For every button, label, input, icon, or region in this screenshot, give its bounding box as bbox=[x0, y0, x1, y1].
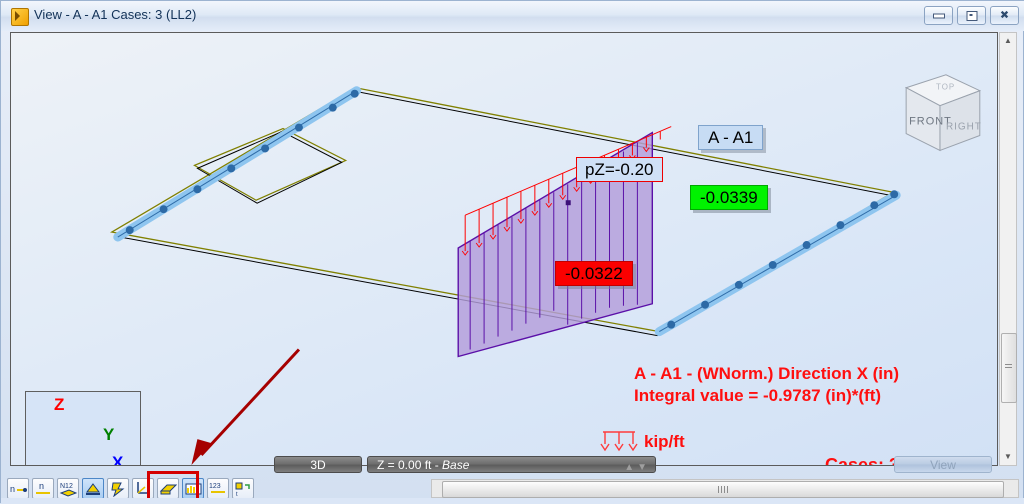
model-viewport[interactable]: FRONT RIGHT TOP Z Y X A bbox=[10, 32, 998, 466]
svg-text:N12: N12 bbox=[60, 483, 73, 490]
beam-left bbox=[118, 90, 359, 237]
vertical-scroll-thumb[interactable] bbox=[1001, 333, 1017, 403]
numbering-panels-button[interactable]: N12 bbox=[57, 478, 79, 499]
diagram-description-line1: A - A1 - (WNorm.) Direction X (in) bbox=[634, 363, 899, 385]
section-name-label: A - A1 bbox=[698, 125, 763, 150]
values-display-button[interactable]: 123 bbox=[207, 478, 229, 499]
max-value-label: -0.0339 bbox=[690, 185, 768, 210]
window-controls: ✖ bbox=[924, 6, 1019, 25]
window-frame: View - A - A1 Cases: 3 (LL2) ✖ bbox=[0, 0, 1024, 503]
supports-display-button[interactable] bbox=[82, 478, 104, 499]
level-stepper-icon[interactable]: ▲▼ bbox=[624, 459, 650, 476]
svg-text:TOP: TOP bbox=[936, 83, 955, 92]
scroll-up-icon[interactable]: ▲ bbox=[1000, 33, 1016, 49]
svg-text:t: t bbox=[236, 492, 238, 497]
vertical-scrollbar[interactable]: ▲ ▼ bbox=[999, 32, 1017, 466]
level-prefix: Z = 0.00 ft - bbox=[377, 458, 442, 472]
minimize-icon bbox=[933, 13, 945, 18]
numbering-bars-button[interactable]: n bbox=[32, 478, 54, 499]
diagram-description-line2: Integral value = -0.9787 (in)*(ft) bbox=[634, 385, 881, 407]
scroll-down-icon[interactable]: ▼ bbox=[1000, 449, 1016, 465]
svg-text:n: n bbox=[10, 484, 15, 494]
axis-triad-box bbox=[25, 391, 141, 466]
axis-label-z: Z bbox=[54, 395, 64, 415]
load-unit-icon bbox=[599, 429, 641, 453]
load-value-label: pZ=-0.20 bbox=[576, 157, 663, 182]
view-cube-icon[interactable]: FRONT RIGHT TOP bbox=[906, 75, 982, 151]
svg-text:RIGHT: RIGHT bbox=[946, 122, 982, 133]
bottom-pane bbox=[1, 498, 1024, 504]
horizontal-scroll-thumb[interactable] bbox=[442, 481, 1004, 498]
restore-icon bbox=[966, 11, 977, 21]
view-mode-button[interactable]: 3D bbox=[274, 456, 362, 473]
level-name: Base bbox=[442, 458, 469, 472]
view-button[interactable]: View bbox=[894, 456, 992, 473]
beam-right bbox=[659, 190, 898, 331]
minimize-button[interactable] bbox=[924, 6, 953, 25]
min-value-label: -0.0322 bbox=[555, 261, 633, 286]
toolbar-highlight-box bbox=[147, 471, 199, 501]
maximize-button[interactable] bbox=[957, 6, 986, 25]
close-button[interactable]: ✖ bbox=[990, 6, 1019, 25]
loads-display-button[interactable] bbox=[107, 478, 129, 499]
axis-label-y: Y bbox=[103, 425, 114, 445]
svg-text:123: 123 bbox=[209, 483, 221, 490]
app-flag-icon bbox=[11, 8, 29, 26]
level-selector[interactable]: Z = 0.00 ft - Base ▲▼ bbox=[367, 456, 656, 473]
pointer-arrow bbox=[191, 350, 299, 465]
load-unit-label: kip/ft bbox=[644, 432, 685, 452]
close-icon: ✖ bbox=[1000, 10, 1009, 21]
horizontal-scrollbar[interactable] bbox=[431, 479, 1019, 498]
application-window: View - A - A1 Cases: 3 (LL2) ✖ bbox=[0, 0, 1024, 503]
window-title: View - A - A1 Cases: 3 (LL2) bbox=[34, 7, 196, 22]
panel-display-button[interactable]: t bbox=[232, 478, 254, 499]
svg-text:n: n bbox=[39, 481, 44, 491]
numbering-nodes-button[interactable]: n bbox=[7, 478, 29, 499]
title-bar: View - A - A1 Cases: 3 (LL2) ✖ bbox=[1, 1, 1024, 31]
